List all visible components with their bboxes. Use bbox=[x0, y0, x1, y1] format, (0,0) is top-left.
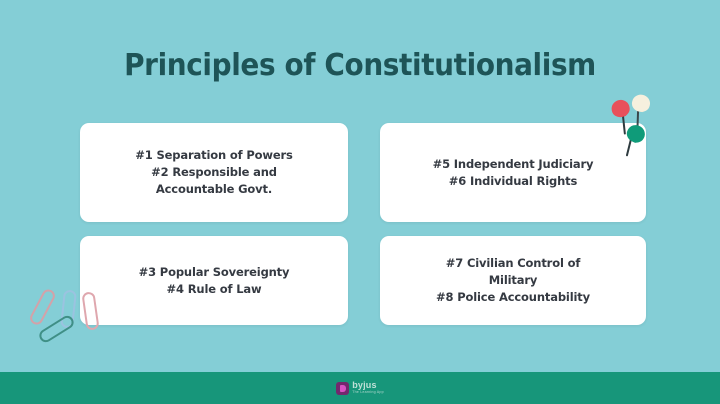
brand-tagline: The Learning App bbox=[352, 391, 384, 395]
principle-line: #3 Popular Sovereignty bbox=[139, 264, 290, 281]
principle-line: Military bbox=[436, 272, 590, 289]
footer-bar: byjus The Learning App bbox=[0, 372, 720, 404]
principle-line: #4 Rule of Law bbox=[139, 281, 290, 298]
principle-line: #1 Separation of Powers bbox=[135, 147, 292, 164]
brand-logo-glyph bbox=[340, 385, 346, 392]
brand-logo: byjus The Learning App bbox=[336, 381, 384, 395]
principle-card-judiciary: #5 Independent Judiciary #6 Individual R… bbox=[380, 123, 646, 222]
principles-card-grid: #1 Separation of Powers #2 Responsible a… bbox=[80, 123, 646, 325]
principle-line: #2 Responsible and bbox=[135, 164, 292, 181]
page-title: Principles of Constitutionalism bbox=[25, 48, 695, 84]
brand-logo-mark-icon bbox=[336, 382, 349, 395]
poster-canvas: Principles of Constitutionalism #1 Separ… bbox=[0, 0, 720, 404]
principle-line: #7 Civilian Control of bbox=[436, 255, 590, 272]
principle-line: #8 Police Accountability bbox=[436, 289, 590, 306]
principle-card-civilian: #7 Civilian Control of Military #8 Polic… bbox=[380, 236, 646, 325]
brand-name: byjus bbox=[352, 381, 384, 390]
principle-card-text: #7 Civilian Control of Military #8 Polic… bbox=[436, 255, 590, 306]
brand-logo-text: byjus The Learning App bbox=[352, 381, 384, 395]
principle-card-sovereignty: #3 Popular Sovereignty #4 Rule of Law bbox=[80, 236, 348, 325]
principle-line: #6 Individual Rights bbox=[433, 173, 594, 190]
principle-card-powers: #1 Separation of Powers #2 Responsible a… bbox=[80, 123, 348, 222]
principle-card-text: #3 Popular Sovereignty #4 Rule of Law bbox=[139, 264, 290, 298]
principle-card-text: #1 Separation of Powers #2 Responsible a… bbox=[135, 147, 292, 198]
principle-line: #5 Independent Judiciary bbox=[433, 156, 594, 173]
principle-line: Accountable Govt. bbox=[135, 181, 292, 198]
principle-card-text: #5 Independent Judiciary #6 Individual R… bbox=[433, 156, 594, 190]
